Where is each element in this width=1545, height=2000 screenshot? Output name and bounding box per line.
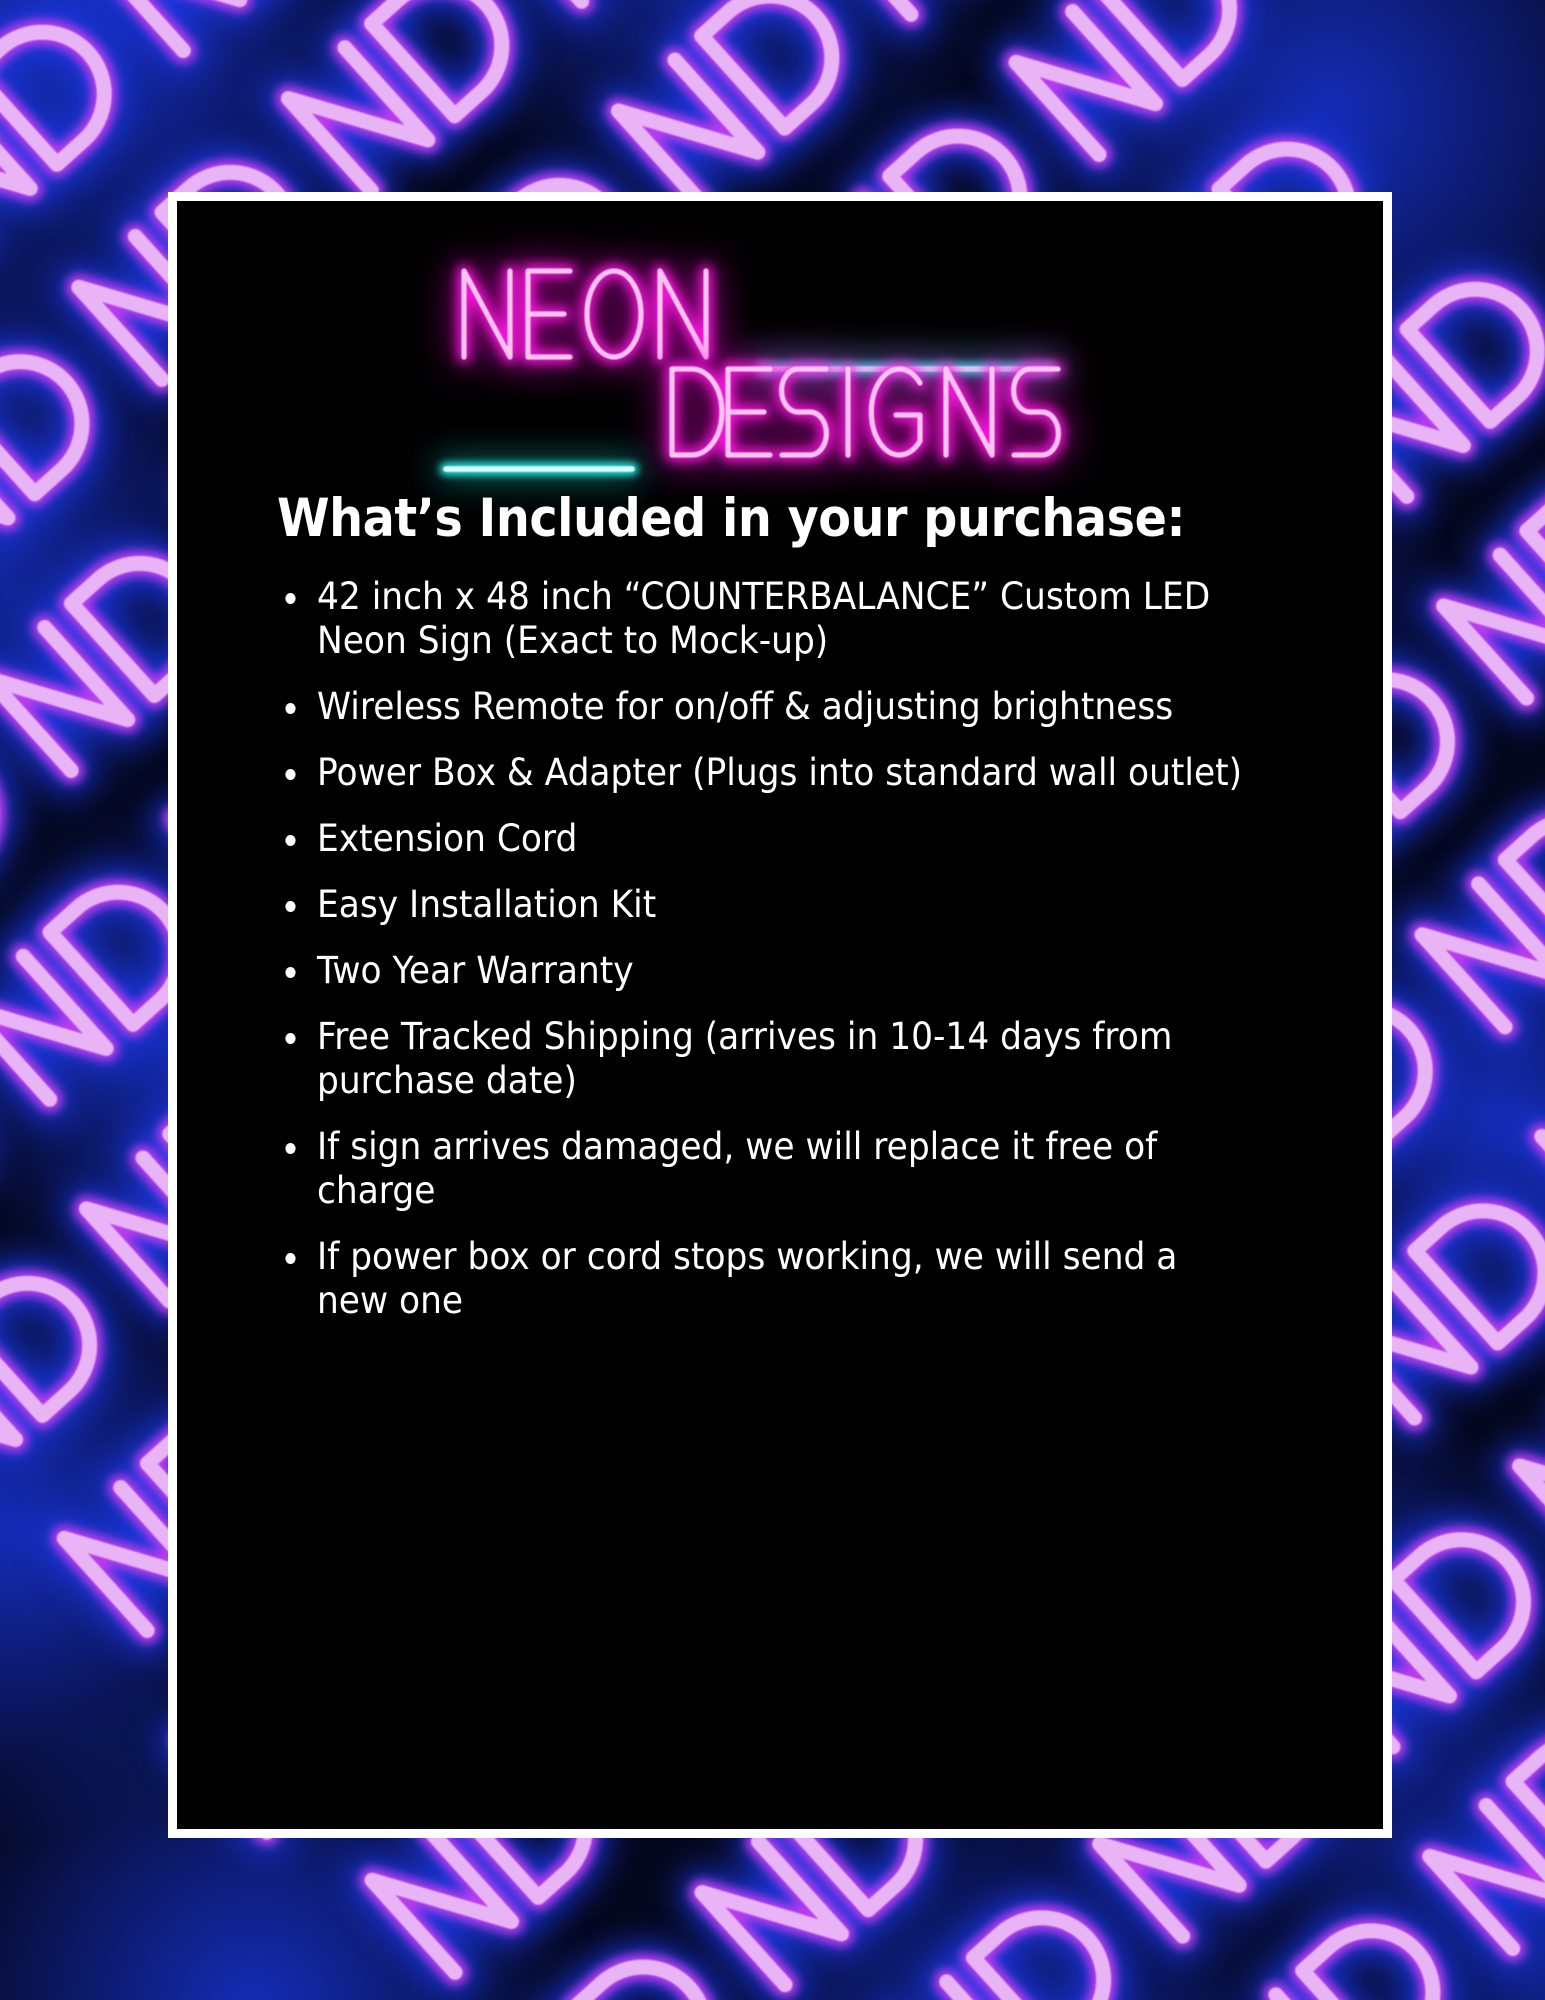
list-item-label: Extension Cord	[317, 817, 577, 860]
list-item-label: If power box or cord stops working, we w…	[317, 1235, 1177, 1322]
list-item-label: Two Year Warranty	[317, 949, 634, 992]
list-item: Easy Installation Kit	[277, 883, 1252, 927]
list-item: If sign arrives damaged, we will replace…	[277, 1125, 1252, 1213]
white-card-border: What’s Included in your purchase: 42 inc…	[168, 192, 1392, 1838]
black-content-card: What’s Included in your purchase: 42 inc…	[177, 201, 1383, 1829]
bullet-dot-icon	[285, 1143, 295, 1154]
list-item-label: 42 inch x 48 inch “COUNTERBALANCE” Custo…	[317, 575, 1210, 662]
list-item: Extension Cord	[277, 817, 1252, 861]
page-title: What’s Included in your purchase:	[277, 491, 1220, 547]
bullet-dot-icon	[285, 593, 295, 604]
list-item: Free Tracked Shipping (arrives in 10-14 …	[277, 1015, 1252, 1103]
bullet-dot-icon	[285, 967, 295, 978]
list-item-label: Power Box & Adapter (Plugs into standard…	[317, 751, 1242, 794]
list-item-label: Wireless Remote for on/off & adjusting b…	[317, 685, 1173, 728]
list-item: Power Box & Adapter (Plugs into standard…	[277, 751, 1252, 795]
bullet-dot-icon	[285, 1033, 295, 1044]
neon-designs-logo	[177, 247, 1383, 477]
bullet-dot-icon	[285, 1253, 295, 1264]
list-item-label: Free Tracked Shipping (arrives in 10-14 …	[317, 1015, 1172, 1102]
list-item: 42 inch x 48 inch “COUNTERBALANCE” Custo…	[277, 575, 1252, 663]
bullet-dot-icon	[285, 769, 295, 780]
logo-neon-svg	[430, 247, 1130, 477]
neon-designs-inclusions-flyer: What’s Included in your purchase: 42 inc…	[0, 0, 1545, 2000]
list-item-label: If sign arrives damaged, we will replace…	[317, 1125, 1157, 1212]
list-item: Two Year Warranty	[277, 949, 1252, 993]
card-content: What’s Included in your purchase: 42 inc…	[177, 491, 1383, 1345]
list-item: If power box or cord stops working, we w…	[277, 1235, 1252, 1323]
bullet-dot-icon	[285, 703, 295, 714]
inclusions-list: 42 inch x 48 inch “COUNTERBALANCE” Custo…	[277, 575, 1325, 1323]
bullet-dot-icon	[285, 901, 295, 912]
list-item: Wireless Remote for on/off & adjusting b…	[277, 685, 1252, 729]
list-item-label: Easy Installation Kit	[317, 883, 656, 926]
bullet-dot-icon	[285, 835, 295, 846]
